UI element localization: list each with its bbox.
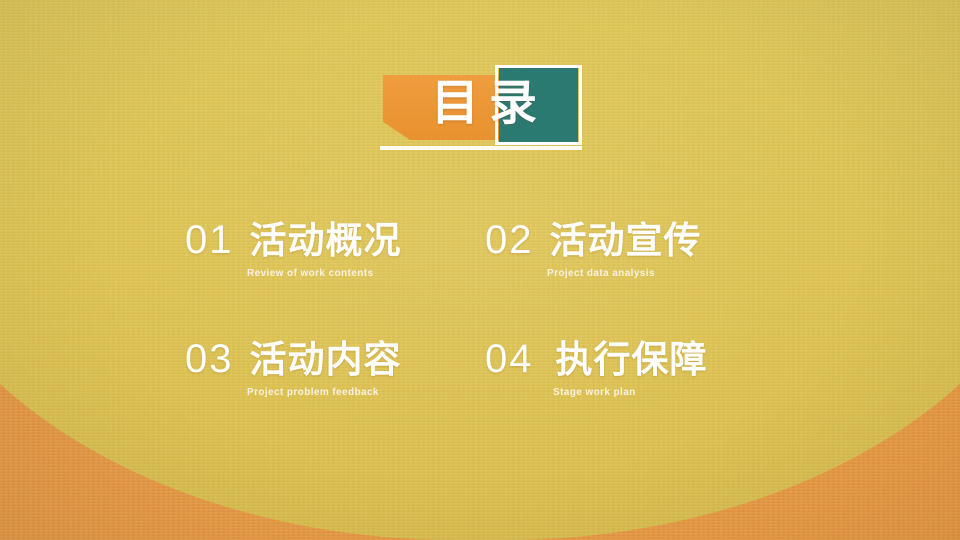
toc-item-02-number: 02 (485, 218, 534, 262)
toc-item-01-title: 活动概况 (250, 218, 402, 262)
toc-item-03[interactable]: 03 活动内容 Project problem feedback (185, 337, 485, 400)
table-of-contents: 01 活动概况 Review of work contents 02 活动宣传 … (185, 218, 785, 400)
toc-row-2: 03 活动内容 Project problem feedback 04 执行保障… (185, 337, 785, 400)
page-title: 目录 (414, 70, 564, 136)
toc-item-01-head: 01 活动概况 (185, 218, 485, 262)
toc-item-01[interactable]: 01 活动概况 Review of work contents (185, 218, 485, 281)
toc-item-04-head: 04 执行保障 (485, 337, 785, 381)
toc-item-02[interactable]: 02 活动宣传 Project data analysis (485, 218, 785, 281)
toc-item-01-number: 01 (185, 218, 234, 262)
toc-item-04-number: 04 (485, 337, 534, 381)
toc-item-02-title: 活动宣传 (550, 218, 702, 262)
toc-item-01-subtitle: Review of work contents (185, 267, 485, 281)
toc-item-03-title: 活动内容 (250, 337, 402, 381)
toc-item-03-number: 03 (185, 337, 234, 381)
toc-row-1: 01 活动概况 Review of work contents 02 活动宣传 … (185, 218, 785, 281)
slide-title-block: 目录 (380, 68, 585, 158)
presentation-slide: 目录 01 活动概况 Review of work contents 02 活动… (0, 0, 960, 540)
toc-item-02-head: 02 活动宣传 (485, 218, 785, 262)
toc-item-04-title: 执行保障 (556, 337, 708, 381)
toc-item-04-subtitle: Stage work plan (485, 386, 785, 400)
title-underline (380, 146, 582, 150)
toc-item-03-head: 03 活动内容 (185, 337, 485, 381)
toc-item-03-subtitle: Project problem feedback (185, 386, 485, 400)
toc-item-04[interactable]: 04 执行保障 Stage work plan (485, 337, 785, 400)
toc-item-02-subtitle: Project data analysis (485, 267, 785, 281)
